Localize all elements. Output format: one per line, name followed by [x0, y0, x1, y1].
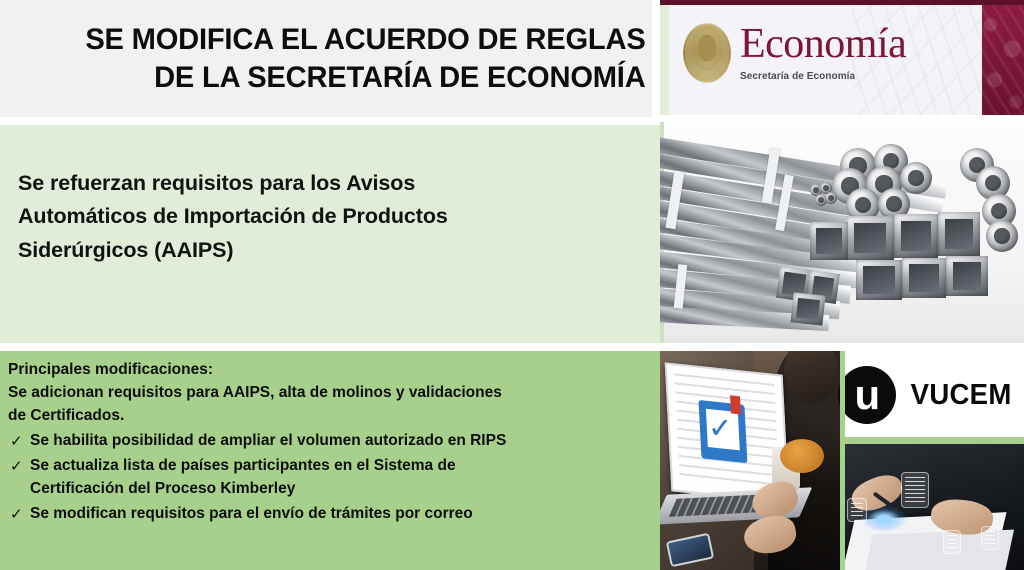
bullets-panel: Principales modificaciones: Se adicionan… [0, 351, 652, 570]
steel-pipe [900, 162, 932, 194]
clipboard-icon [901, 472, 929, 508]
bullets-heading: Principales modificaciones: Se adicionan… [8, 359, 642, 428]
checkmark-glyph-icon: ✓ [707, 413, 739, 446]
column-divider [652, 351, 660, 570]
hands-documents-digital-photo [845, 444, 1024, 570]
list-item-line-2: Certificación del Proceso Kimberley [30, 478, 642, 501]
steel-square-tube [938, 212, 980, 256]
title-line-2: DE LA SECRETARÍA DE ECONOMÍA [86, 59, 646, 97]
page-title: SE MODIFICA EL ACUERDO DE REGLAS DE LA S… [86, 21, 646, 97]
document-icon [981, 526, 999, 550]
steel-square-tube [902, 258, 946, 298]
steel-square-tube [894, 214, 938, 258]
list-item-line-1: Se modifican requisitos para el envío de… [30, 503, 642, 526]
column-divider [840, 351, 845, 570]
logo-lockup: Economía Secretaría de Economía [682, 22, 906, 84]
glow-highlight [861, 506, 907, 532]
bullets-list: ✓ Se habilita posibilidad de ampliar el … [8, 430, 642, 526]
smartphone [666, 533, 714, 568]
bullets-heading-line-3: de Certificados. [8, 405, 642, 428]
list-item: ✓ Se actualiza lista de países participa… [8, 455, 642, 501]
person-laptop-checklist-photo: ✓ [660, 351, 840, 570]
steel-hex-bar [791, 292, 826, 325]
list-item-line-1: Se actualiza lista de países participant… [30, 455, 642, 478]
document-icon [943, 530, 961, 554]
document-icon [847, 498, 867, 522]
column-divider [652, 125, 660, 343]
title-panel: SE MODIFICA EL ACUERDO DE REGLAS DE LA S… [0, 0, 652, 117]
list-item-line-1: Se habilita posibilidad de ampliar el vo… [30, 430, 642, 453]
economia-logo-header: Economía Secretaría de Economía [660, 0, 1024, 115]
check-icon: ✓ [10, 430, 23, 452]
steel-pipe [986, 220, 1018, 252]
title-line-1: SE MODIFICA EL ACUERDO DE REGLAS [86, 21, 646, 59]
vucem-mark-icon: u [838, 366, 896, 424]
check-icon: ✓ [10, 503, 23, 525]
croissant [780, 439, 824, 473]
infographic-slide: SE MODIFICA EL ACUERDO DE REGLAS DE LA S… [0, 0, 1024, 570]
vucem-wordmark: VUCEM [911, 379, 1012, 412]
subtitle-panel: Se refuerzan requisitos para los Avisos … [0, 125, 652, 343]
vucem-mark-letter: u [855, 374, 881, 416]
mexican-coat-of-arms-icon [682, 22, 732, 84]
steel-rod [825, 192, 837, 204]
maroon-ornament-band [982, 5, 1024, 115]
subtitle-line-3: Siderúrgicos (AAIPS) [18, 234, 624, 267]
steel-products-photo [660, 122, 1024, 343]
list-item: ✓ Se modifican requisitos para el envío … [8, 503, 642, 526]
logo-subtitle: Secretaría de Economía [740, 70, 898, 82]
list-item: ✓ Se habilita posibilidad de ampliar el … [8, 430, 642, 453]
steel-square-tube [810, 222, 848, 260]
subtitle-text: Se refuerzan requisitos para los Avisos … [18, 167, 624, 267]
check-icon: ✓ [10, 455, 23, 477]
subtitle-line-2: Automáticos de Importación de Productos [18, 200, 624, 233]
steel-square-tube [846, 216, 894, 260]
steel-square-tube [946, 256, 988, 296]
subtitle-line-1: Se refuerzan requisitos para los Avisos [18, 167, 624, 200]
logo-left-edge [660, 5, 669, 115]
steel-square-tube [856, 260, 902, 300]
logo-name: Economía [740, 24, 906, 64]
bullets-heading-line-1: Principales modificaciones: [8, 359, 642, 382]
vucem-logo: u VUCEM [845, 353, 1024, 437]
column-divider [845, 437, 1024, 444]
bullets-heading-line-2: Se adicionan requisitos para AAIPS, alta… [8, 382, 642, 405]
logo-wordmark: Economía Secretaría de Economía [740, 22, 906, 82]
